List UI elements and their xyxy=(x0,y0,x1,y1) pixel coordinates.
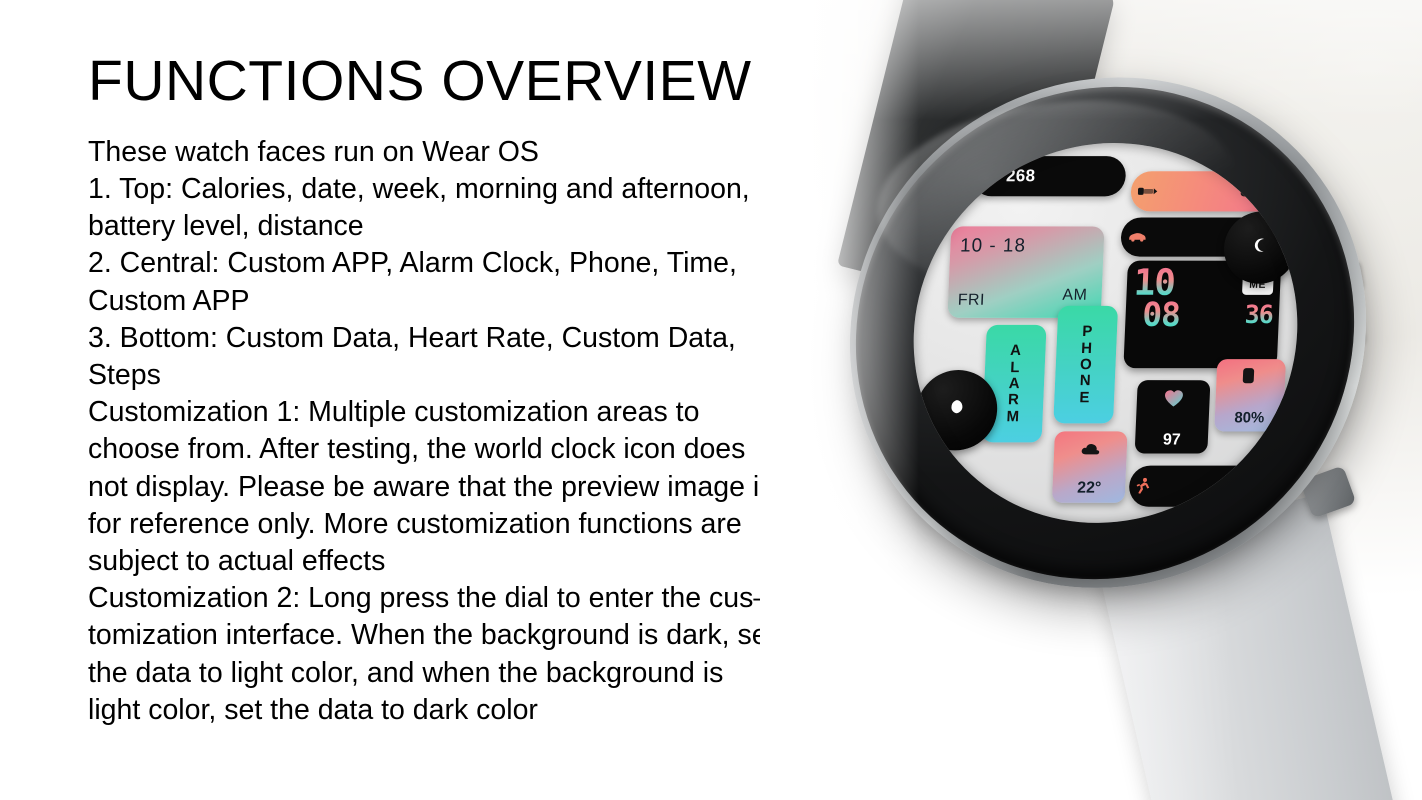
steps-value: 7645 xyxy=(1220,476,1259,496)
phone-label: P H O N E xyxy=(1078,325,1093,406)
time-minutes: 08 xyxy=(1141,299,1180,330)
moon-icon xyxy=(1252,238,1268,258)
complication-battery-right[interactable]: 80% xyxy=(1214,360,1286,432)
complication-battery-top[interactable]: 80% xyxy=(1129,172,1284,212)
complication-steps[interactable]: 7645 xyxy=(1128,466,1268,508)
complication-moon-phase[interactable] xyxy=(1222,212,1298,284)
car-icon xyxy=(1127,231,1146,243)
phone-letter: N xyxy=(1079,374,1090,389)
alarm-letter: M xyxy=(1006,409,1019,424)
battery-right-value: 80% xyxy=(1214,409,1284,426)
phone-letter: E xyxy=(1079,390,1090,405)
date-day-month: 10 - 18 xyxy=(959,236,1026,258)
battery-icon xyxy=(1242,368,1254,383)
complication-calories[interactable]: 268 xyxy=(971,157,1126,197)
watch-photo: 268 80% xyxy=(760,0,1422,800)
battery-top-value: 80% xyxy=(1239,182,1274,202)
cloud-icon xyxy=(1079,443,1101,462)
alarm-letter: A xyxy=(1008,376,1019,391)
time-seconds: 36 xyxy=(1244,303,1273,327)
heart-rate-value: 97 xyxy=(1134,432,1208,450)
running-icon xyxy=(1136,478,1151,495)
complication-phone[interactable]: P H O N E xyxy=(1053,306,1117,424)
calories-value: 268 xyxy=(1005,167,1035,187)
phone-letter: O xyxy=(1079,358,1091,373)
complication-date[interactable]: 10 - 18 FRI AM xyxy=(947,227,1104,318)
watch-screen[interactable]: 268 80% xyxy=(902,124,1308,541)
battery-charging-icon xyxy=(1137,186,1157,198)
date-weekday: FRI xyxy=(957,292,985,310)
phone-letter: H xyxy=(1080,341,1091,356)
alarm-letter: R xyxy=(1007,393,1018,408)
weather-value: 22° xyxy=(1052,480,1126,498)
complication-heart-rate[interactable]: 97 xyxy=(1134,380,1210,454)
alarm-letter: A xyxy=(1009,344,1020,359)
alarm-letter: L xyxy=(1009,360,1019,375)
alarm-label: A L A R M xyxy=(1006,344,1022,425)
heart-icon xyxy=(1162,390,1183,413)
phone-letter: P xyxy=(1082,325,1093,340)
complication-weather[interactable]: 22° xyxy=(1052,432,1128,504)
flame-icon xyxy=(978,168,994,185)
sun-icon xyxy=(948,400,965,421)
date-meridiem: AM xyxy=(1062,287,1088,305)
